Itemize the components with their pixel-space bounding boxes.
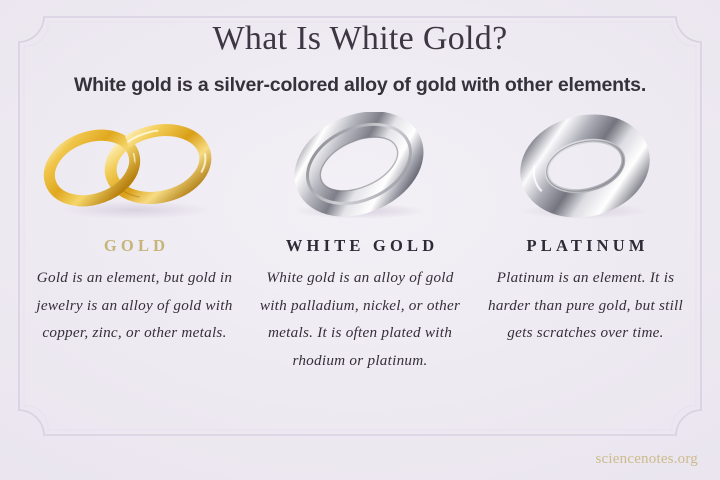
- column-heading-platinum: PLATINUM: [522, 236, 648, 256]
- column-body-platinum: Platinum is an element. It is harder tha…: [483, 264, 689, 347]
- page-subtitle: White gold is a silver-colored alloy of …: [0, 72, 720, 98]
- infographic-poster: What Is White Gold? White gold is a silv…: [0, 0, 720, 480]
- column-white-gold: WHITE GOLD White gold is an alloy of gol…: [248, 112, 473, 374]
- column-body-gold: Gold is an element, but gold in jewelry …: [26, 264, 244, 347]
- source-watermark: sciencenotes.org: [596, 451, 698, 468]
- gold-rings-illustration: [30, 112, 240, 224]
- column-heading-white-gold: WHITE GOLD: [282, 236, 439, 256]
- poster-header: What Is White Gold? White gold is a silv…: [0, 18, 720, 98]
- platinum-ring-illustration: [481, 112, 691, 224]
- column-gold: GOLD Gold is an element, but gold in jew…: [22, 112, 247, 347]
- white-gold-ring-body: [295, 112, 423, 219]
- column-platinum: PLATINUM Platinum is an element. It is h…: [473, 112, 698, 347]
- metal-columns: GOLD Gold is an element, but gold in jew…: [22, 112, 698, 374]
- column-body-white-gold: White gold is an alloy of gold with pall…: [257, 264, 463, 374]
- white-gold-ring-illustration: [255, 112, 465, 224]
- page-title: What Is White Gold?: [0, 18, 720, 60]
- platinum-ring-body: [525, 118, 644, 215]
- column-heading-gold: GOLD: [100, 236, 170, 256]
